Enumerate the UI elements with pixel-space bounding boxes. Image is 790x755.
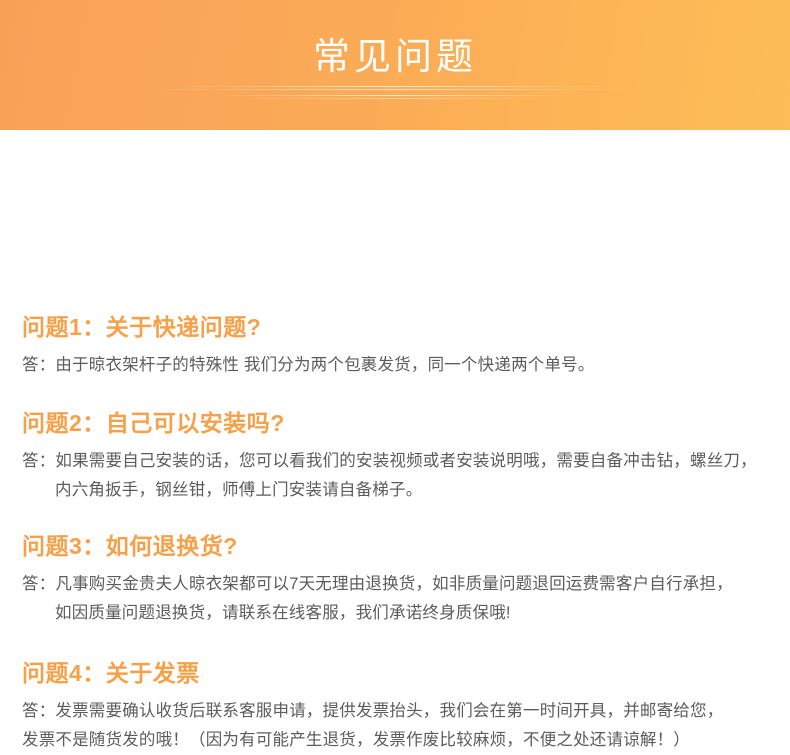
faq-item-4: 问题4：关于发票 答：发票需要确认收货后联系客服申请，提供发票抬头，我们会在第一…	[22, 658, 772, 755]
faq-question-2: 问题2：自己可以安装吗?	[22, 408, 772, 438]
spacer	[22, 438, 772, 447]
faq-answer-line: 答：发票需要确认收货后联系客服申请，提供发票抬头，我们会在第一时间开具，并邮寄给…	[22, 697, 772, 726]
decorative-line-2	[150, 89, 640, 90]
faq-answer-line: 内六角扳手，钢丝钳，师傅上门安装请自备梯子。	[22, 476, 772, 505]
spacer	[22, 561, 772, 570]
faq-answer-4: 答：发票需要确认收货后联系客服申请，提供发票抬头，我们会在第一时间开具，并邮寄给…	[22, 697, 772, 755]
page-header-banner: 常见问题	[0, 0, 790, 130]
faq-answer-line: 答：如果需要自己安装的话，您可以看我们的安装视频或者安装说明哦，需要自备冲击钻，…	[22, 447, 772, 476]
faq-question-4: 问题4：关于发票	[22, 658, 772, 688]
faq-item-2: 问题2：自己可以安装吗? 答：如果需要自己安装的话，您可以看我们的安装视频或者安…	[22, 408, 772, 505]
header-decorative-rules	[0, 86, 790, 104]
faq-question-3: 问题3：如何退换货?	[22, 531, 772, 561]
faq-answer-1: 答：由于晾衣架杆子的特殊性 我们分为两个包裹发货，同一个快递两个单号。	[22, 351, 772, 380]
faq-question-1: 问题1：关于快递问题?	[22, 312, 772, 342]
faq-answer-3: 答：凡事购买金贵夫人晾衣架都可以7天无理由退换货，如非质量问题退回运费需客户自行…	[22, 570, 772, 628]
decorative-line-3	[215, 95, 575, 96]
decorative-line-4	[240, 98, 550, 99]
faq-answer-line: 如因质量问题退换货，请联系在线客服，我们承诺终身质保哦!	[22, 599, 772, 628]
faq-answer-2: 答：如果需要自己安装的话，您可以看我们的安装视频或者安装说明哦，需要自备冲击钻，…	[22, 447, 772, 505]
faq-answer-line: 答：由于晾衣架杆子的特殊性 我们分为两个包裹发货，同一个快递两个单号。	[22, 351, 772, 380]
spacer	[22, 342, 772, 351]
faq-answer-line: 发票不是随货发的哦！（因为有可能产生退货，发票作废比较麻烦，不便之处还请谅解！）	[22, 726, 772, 755]
decorative-line-1	[175, 86, 615, 87]
faq-item-1: 问题1：关于快递问题? 答：由于晾衣架杆子的特殊性 我们分为两个包裹发货，同一个…	[22, 312, 772, 380]
faq-item-3: 问题3：如何退换货? 答：凡事购买金贵夫人晾衣架都可以7天无理由退换货，如非质量…	[22, 531, 772, 628]
page-title: 常见问题	[0, 34, 790, 80]
faq-answer-line: 答：凡事购买金贵夫人晾衣架都可以7天无理由退换货，如非质量问题退回运费需客户自行…	[22, 570, 772, 599]
spacer	[22, 688, 772, 697]
faq-page: 常见问题 问题1：关于快递问题? 答：由于晾衣架杆子的特殊性 我们分为两个包裹发…	[0, 0, 790, 669]
